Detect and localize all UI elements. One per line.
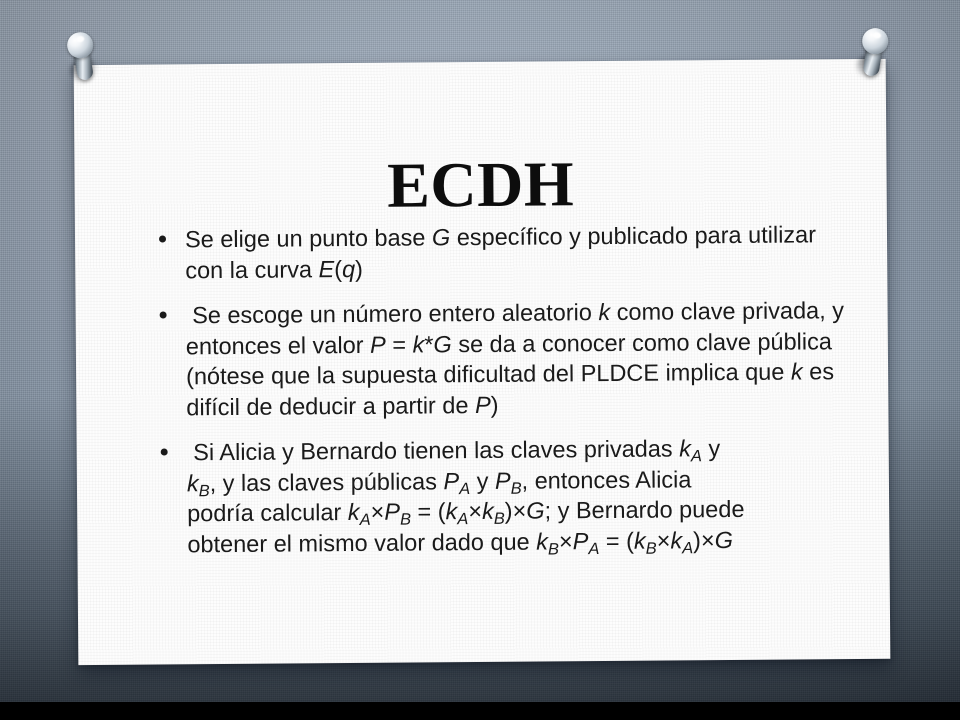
bottom-letterbox-bar — [0, 702, 960, 720]
bullet-text: Se elige un punto base G específico y pu… — [185, 219, 853, 285]
bullet-text: Se escoge un número entero aleatorio k c… — [186, 295, 855, 422]
list-item: Se escoge un número entero aleatorio k c… — [154, 295, 855, 423]
slide-card: ECDH Se elige un punto base G específico… — [74, 59, 891, 665]
list-item: Se elige un punto base G específico y pu… — [153, 219, 853, 286]
bullet-dot-icon — [161, 449, 168, 456]
slide-content-area: ECDH Se elige un punto base G específico… — [74, 59, 891, 665]
pushpin-highlight — [873, 32, 882, 39]
bullet-dot-icon — [159, 235, 166, 242]
pushpin-highlight — [76, 36, 85, 43]
bullet-text: Si Alicia y Bernardo tienen las claves p… — [187, 433, 748, 560]
bullet-dot-icon — [160, 311, 167, 318]
page-title: ECDH — [74, 148, 887, 222]
bullet-list: Se elige un punto base G específico y pu… — [153, 219, 856, 560]
pushpin-head — [861, 26, 890, 55]
pushpin-head — [65, 30, 95, 60]
slide-canvas: ECDH Se elige un punto base G específico… — [0, 0, 960, 720]
list-item: Si Alicia y Bernardo tienen las claves p… — [155, 432, 856, 560]
